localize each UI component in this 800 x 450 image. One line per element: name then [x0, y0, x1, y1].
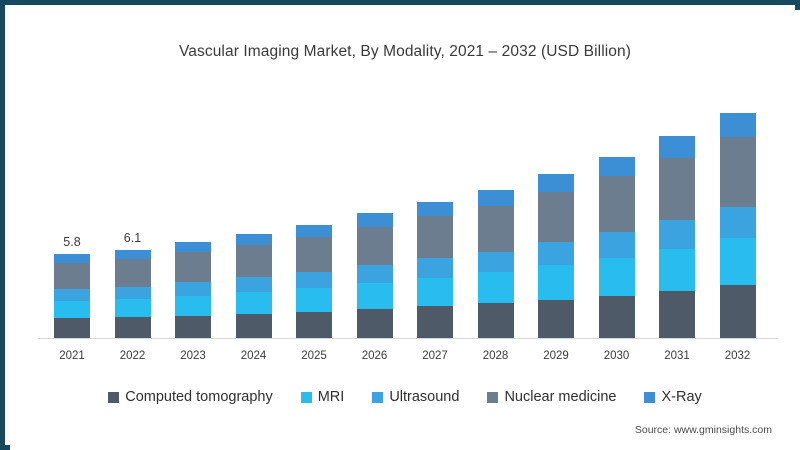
legend-item-4[interactable]: X-Ray — [644, 389, 701, 405]
bar-segment — [538, 174, 574, 191]
bar-segment — [599, 258, 635, 296]
legend-label: X-Ray — [661, 389, 701, 405]
bar-value-label: 5.8 — [42, 235, 102, 249]
bar-2032 — [720, 113, 756, 338]
bar-segment — [659, 291, 695, 338]
bar-2028 — [478, 190, 514, 338]
bar-segment — [115, 250, 151, 260]
bar-2023 — [175, 242, 211, 338]
bar-segment — [115, 299, 151, 318]
bar-segment — [659, 249, 695, 291]
bar-segment — [236, 292, 272, 314]
legend-label: MRI — [318, 389, 345, 405]
x-tick-2021: 2021 — [42, 350, 102, 362]
legend-item-3[interactable]: Nuclear medicine — [487, 389, 616, 405]
bar-segment — [599, 296, 635, 338]
bar-segment — [720, 207, 756, 238]
bar-segment — [417, 278, 453, 307]
legend-label: Ultrasound — [389, 389, 459, 405]
x-tick-2025: 2025 — [284, 350, 344, 362]
bar-segment — [417, 306, 453, 338]
x-tick-2026: 2026 — [345, 350, 405, 362]
bar-segment — [417, 202, 453, 217]
bar-segment — [538, 242, 574, 265]
bar-segment — [175, 282, 211, 295]
bar-segment — [720, 113, 756, 137]
legend-item-0[interactable]: Computed tomography — [108, 389, 273, 405]
bar-segment — [175, 252, 211, 282]
bar-segment — [296, 237, 332, 272]
bar-segment — [538, 300, 574, 338]
legend: Computed tomographyMRIUltrasoundNuclear … — [10, 389, 800, 405]
x-tick-2024: 2024 — [224, 350, 284, 362]
bar-segment — [659, 136, 695, 157]
bar-2029 — [538, 174, 574, 338]
bar-segment — [296, 288, 332, 312]
legend-item-1[interactable]: MRI — [301, 389, 345, 405]
bar-segment — [54, 301, 90, 319]
x-tick-2029: 2029 — [526, 350, 586, 362]
bar-value-label: 6.1 — [103, 231, 163, 245]
plot-area: 5.820216.1202220232024202520262027202820… — [10, 10, 800, 450]
bar-segment — [417, 258, 453, 277]
bar-segment — [357, 283, 393, 309]
source-attribution: Source: www.gminsights.com — [635, 424, 772, 436]
chart-canvas: Vascular Imaging Market, By Modality, 20… — [10, 10, 800, 450]
bar-segment — [538, 265, 574, 300]
x-tick-2031: 2031 — [647, 350, 707, 362]
bar-2022 — [115, 250, 151, 338]
bar-segment — [236, 314, 272, 338]
x-axis-line — [38, 338, 778, 339]
bar-segment — [115, 287, 151, 299]
bar-segment — [599, 176, 635, 232]
bar-2027 — [417, 202, 453, 338]
x-tick-2027: 2027 — [405, 350, 465, 362]
bar-segment — [115, 259, 151, 286]
x-tick-2023: 2023 — [163, 350, 223, 362]
bar-2026 — [357, 213, 393, 338]
bar-segment — [54, 318, 90, 338]
bar-segment — [175, 242, 211, 252]
bar-segment — [357, 265, 393, 282]
legend-swatch-icon — [301, 392, 312, 403]
bar-segment — [720, 285, 756, 337]
bar-2030 — [599, 157, 635, 338]
bar-segment — [54, 263, 90, 289]
bar-segment — [296, 312, 332, 338]
bar-segment — [478, 303, 514, 338]
bar-2024 — [236, 234, 272, 338]
legend-label: Nuclear medicine — [504, 389, 616, 405]
legend-swatch-icon — [108, 392, 119, 403]
x-tick-2028: 2028 — [466, 350, 526, 362]
bar-segment — [236, 245, 272, 277]
bar-segment — [478, 252, 514, 273]
bar-segment — [478, 272, 514, 303]
x-tick-2032: 2032 — [708, 350, 768, 362]
bar-2021 — [54, 254, 90, 338]
bar-segment — [720, 137, 756, 207]
x-tick-2022: 2022 — [103, 350, 163, 362]
bar-segment — [54, 254, 90, 263]
x-tick-2030: 2030 — [587, 350, 647, 362]
bar-segment — [357, 227, 393, 266]
bar-segment — [599, 157, 635, 176]
bar-segment — [659, 220, 695, 248]
bar-segment — [599, 232, 635, 257]
bar-segment — [175, 296, 211, 316]
bar-segment — [659, 158, 695, 220]
legend-swatch-icon — [487, 392, 498, 403]
bar-segment — [357, 309, 393, 338]
bar-segment — [478, 206, 514, 252]
bar-2031 — [659, 136, 695, 338]
legend-label: Computed tomography — [125, 389, 273, 405]
bar-segment — [357, 213, 393, 226]
bar-segment — [538, 192, 574, 243]
bar-segment — [296, 272, 332, 288]
bar-segment — [417, 216, 453, 258]
bar-segment — [54, 289, 90, 301]
bar-segment — [175, 316, 211, 338]
bar-segment — [720, 238, 756, 285]
legend-swatch-icon — [372, 392, 383, 403]
bar-2025 — [296, 225, 332, 338]
bar-segment — [296, 225, 332, 237]
bar-segment — [115, 317, 151, 338]
bar-segment — [236, 234, 272, 245]
legend-swatch-icon — [644, 392, 655, 403]
bar-segment — [236, 277, 272, 292]
bar-segment — [478, 190, 514, 206]
legend-item-2[interactable]: Ultrasound — [372, 389, 459, 405]
chart-frame: Vascular Imaging Market, By Modality, 20… — [0, 0, 800, 450]
